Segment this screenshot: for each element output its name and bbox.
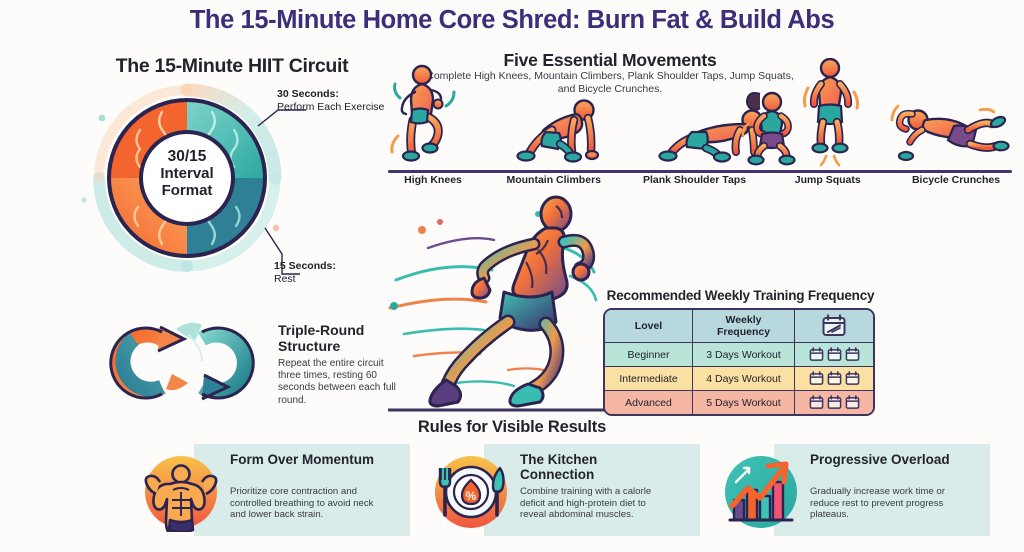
rule-title: Progressive Overload: [810, 452, 960, 467]
frequency-table: Lovel WeeklyFrequency Beginner 3 Days Wo…: [603, 308, 875, 416]
rule-card-form-over-momentum: Form Over Momentum Prioritize core contr…: [142, 444, 410, 544]
rule-body: Gradually increase work time or reduce r…: [810, 486, 958, 521]
callout-rest-title: 15 Seconds:: [274, 260, 384, 273]
movements-label-row: High Knees Mountain Climbers Plank Shoul…: [382, 174, 1022, 186]
rule-card-progressive-overload: Progressive Overload Gradually increase …: [722, 444, 990, 544]
rule-body: Combine training with a calorle deficit …: [520, 486, 668, 521]
movement-label-bicycle-crunches: Bicycle Crunches: [896, 174, 1016, 186]
column-header-calendar-icon: [795, 310, 873, 342]
rule-card-kitchen-connection: % The Kitchen Connection Combine trainin…: [432, 444, 700, 544]
infographic-canvas: The 15-Minute Home Core Shred: Burn Fat …: [0, 0, 1024, 552]
movement-label-high-knees: High Knees: [388, 174, 478, 186]
callout-rest-body: Rest: [274, 273, 384, 286]
triple-round-icon: [92, 305, 272, 420]
rules-heading: Rules for Visible Results: [0, 418, 1024, 437]
runner-illustration: [388, 188, 618, 413]
movement-label-plank-shoulder-taps: Plank Shoulder Taps: [630, 174, 760, 186]
athlete-body: [430, 197, 589, 406]
svg-text:%: %: [466, 489, 477, 503]
calendar-day-icon: [845, 371, 860, 386]
movement-label-mountain-climbers: Mountain Climbers: [494, 174, 614, 186]
calendar-day-icon: [827, 371, 842, 386]
table-header-row: Lovel WeeklyFrequency: [605, 310, 873, 343]
interval-word-interval: Interval: [141, 165, 233, 182]
rising-bar-chart-arrow-icon: [722, 448, 800, 532]
cell-calendars-intermediate: [795, 367, 873, 390]
cell-calendars-advanced: [795, 391, 873, 414]
calendar-day-icon: [845, 395, 860, 410]
donut-center-label: 30/15 Interval Format: [141, 148, 233, 199]
callout-rest-interval: 15 Seconds: Rest: [274, 260, 384, 285]
movements-baseline: [388, 170, 1012, 173]
table-row: Intermediate 4 Days Workout: [605, 367, 873, 391]
movements-figure-strip: [382, 58, 1022, 173]
cell-level-beginner: Beginner: [605, 343, 693, 366]
infinity-loop-arrows-icon: [92, 305, 272, 420]
plate-fork-knife-calorie-icon: %: [432, 448, 510, 532]
triple-round-title: Triple-Round Structure: [278, 322, 403, 354]
cell-level-advanced: Advanced: [605, 391, 693, 414]
calendar-day-icon: [827, 395, 842, 410]
column-header-level: Lovel: [605, 310, 693, 342]
cell-frequency-intermediate: 4 Days Workout: [693, 367, 795, 390]
plank-shoulder-taps-figure-icon: [660, 111, 762, 162]
rule-title: The Kitchen Connection: [520, 452, 670, 482]
callout-work-title: 30 Seconds:: [277, 88, 387, 101]
running-athlete-illustration: [388, 188, 618, 413]
cell-frequency-advanced: 5 Days Workout: [693, 391, 795, 414]
table-row: Advanced 5 Days Workout: [605, 391, 873, 414]
hiit-donut-chart: 30/15 Interval Format: [62, 78, 312, 278]
high-knees-figure-icon: [392, 66, 454, 161]
cell-calendars-beginner: [795, 343, 873, 366]
frequency-table-heading: Recommended Weekly Training Frequency: [598, 288, 883, 303]
cell-frequency-beginner: 3 Days Workout: [693, 343, 795, 366]
calendar-day-icon: [809, 371, 824, 386]
movements-svg: [382, 58, 1022, 173]
movement-label-jump-squats: Jump Squats: [775, 174, 880, 186]
mountain-climbers-figure-icon: [518, 101, 599, 162]
column-header-frequency: WeeklyFrequency: [693, 310, 795, 342]
cell-level-intermediate: Intermediate: [605, 367, 693, 390]
rule-title: Form Over Momentum: [230, 452, 380, 467]
interval-word-format: Format: [141, 182, 233, 199]
flexing-muscles-figure-icon: [142, 448, 220, 532]
calendar-day-icon: [827, 347, 842, 362]
triple-round-body: Repeat the entire circuit three times, r…: [278, 358, 398, 407]
rule-body: Prioritize core contraction and controll…: [230, 486, 378, 521]
calendar-day-icon: [809, 347, 824, 362]
calendar-schedule-icon: [821, 314, 847, 338]
jump-squats-figure-icon: [743, 59, 858, 165]
interval-ratio: 30/15: [141, 148, 233, 165]
calendar-day-icon: [845, 347, 860, 362]
table-row: Beginner 3 Days Workout: [605, 343, 873, 367]
callout-work-body: Perform Each Exercise: [277, 101, 387, 114]
callout-work-interval: 30 Seconds: Perform Each Exercise: [277, 88, 387, 113]
page-title: The 15-Minute Home Core Shred: Burn Fat …: [0, 6, 1024, 35]
bicycle-crunches-figure-icon: [892, 106, 1009, 160]
hiit-section-heading: The 15-Minute HIIT Circuit: [72, 55, 392, 78]
calendar-day-icon: [809, 395, 824, 410]
